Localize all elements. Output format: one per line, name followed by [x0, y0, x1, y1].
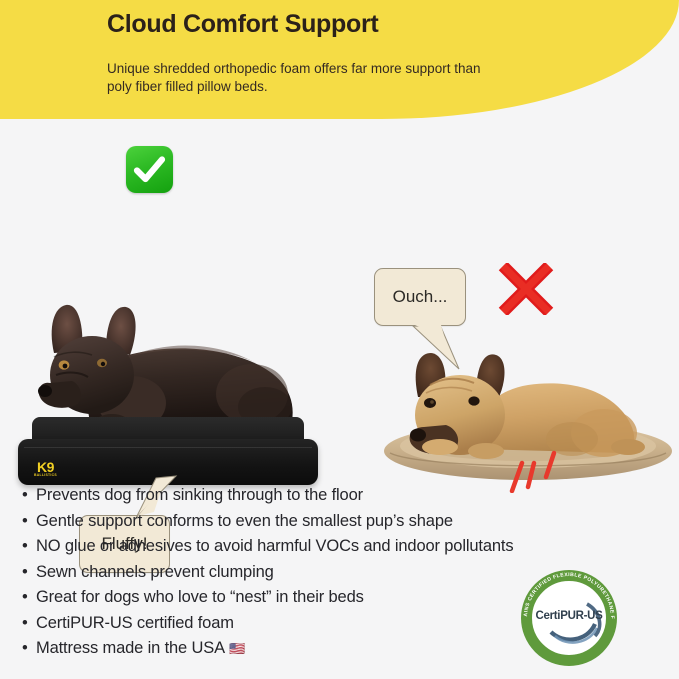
certipur-wordmark: CertiPUR-US: [521, 610, 617, 622]
page-title: Cloud Comfort Support: [107, 10, 378, 39]
list-item-label: CertiPUR-US certified foam: [36, 611, 234, 637]
list-item-label: Great for dogs who love to “nest” in the…: [36, 585, 364, 611]
ouch-speech-bubble: Ouch...: [374, 268, 466, 326]
list-item-label: Gentle support conforms to even the smal…: [36, 509, 453, 535]
black-orthopedic-bed: [18, 417, 318, 485]
k9-brand-mark: K9: [34, 460, 57, 474]
red-x-icon: [497, 263, 555, 315]
list-item-label: Mattress made in the USA: [36, 636, 225, 662]
k9-brand-logo: K9 BALLISTICS: [34, 460, 57, 477]
list-item: • Prevents dog from sinking through to t…: [22, 483, 647, 509]
ouch-bubble-text: Ouch...: [393, 287, 448, 307]
list-item-label: Prevents dog from sinking through to the…: [36, 483, 363, 509]
page-subtitle: Unique shredded orthopedic foam offers f…: [107, 60, 507, 96]
list-item-label: Sewn channels prevent clumping: [36, 560, 274, 586]
list-item: • NO glue or adhesives to avoid harmful …: [22, 534, 647, 560]
bullet-icon: •: [22, 534, 36, 560]
certipur-us-logo: CONTAINS CERTIFIED FLEXIBLE POLYURETHANE…: [521, 570, 617, 666]
bullet-icon: •: [22, 611, 36, 637]
list-item-label: NO glue or adhesives to avoid harmful VO…: [36, 534, 513, 560]
svg-text:www.certipur.us: www.certipur.us: [548, 644, 589, 655]
comparison-area: K9 BALLISTICS Fluffy!: [0, 119, 679, 459]
bullet-icon: •: [22, 636, 36, 662]
usa-flag-icon: 🇺🇸: [229, 636, 245, 662]
green-check-icon: [126, 146, 173, 193]
list-item: • Gentle support conforms to even the sm…: [22, 509, 647, 535]
k9-brand-subtext: BALLISTICS: [34, 474, 57, 477]
header-banner: Cloud Comfort Support Unique shredded or…: [0, 0, 679, 119]
ouch-bubble-tail: [411, 325, 465, 371]
bullet-icon: •: [22, 560, 36, 586]
bullet-icon: •: [22, 509, 36, 535]
bullet-icon: •: [22, 483, 36, 509]
bullet-icon: •: [22, 585, 36, 611]
